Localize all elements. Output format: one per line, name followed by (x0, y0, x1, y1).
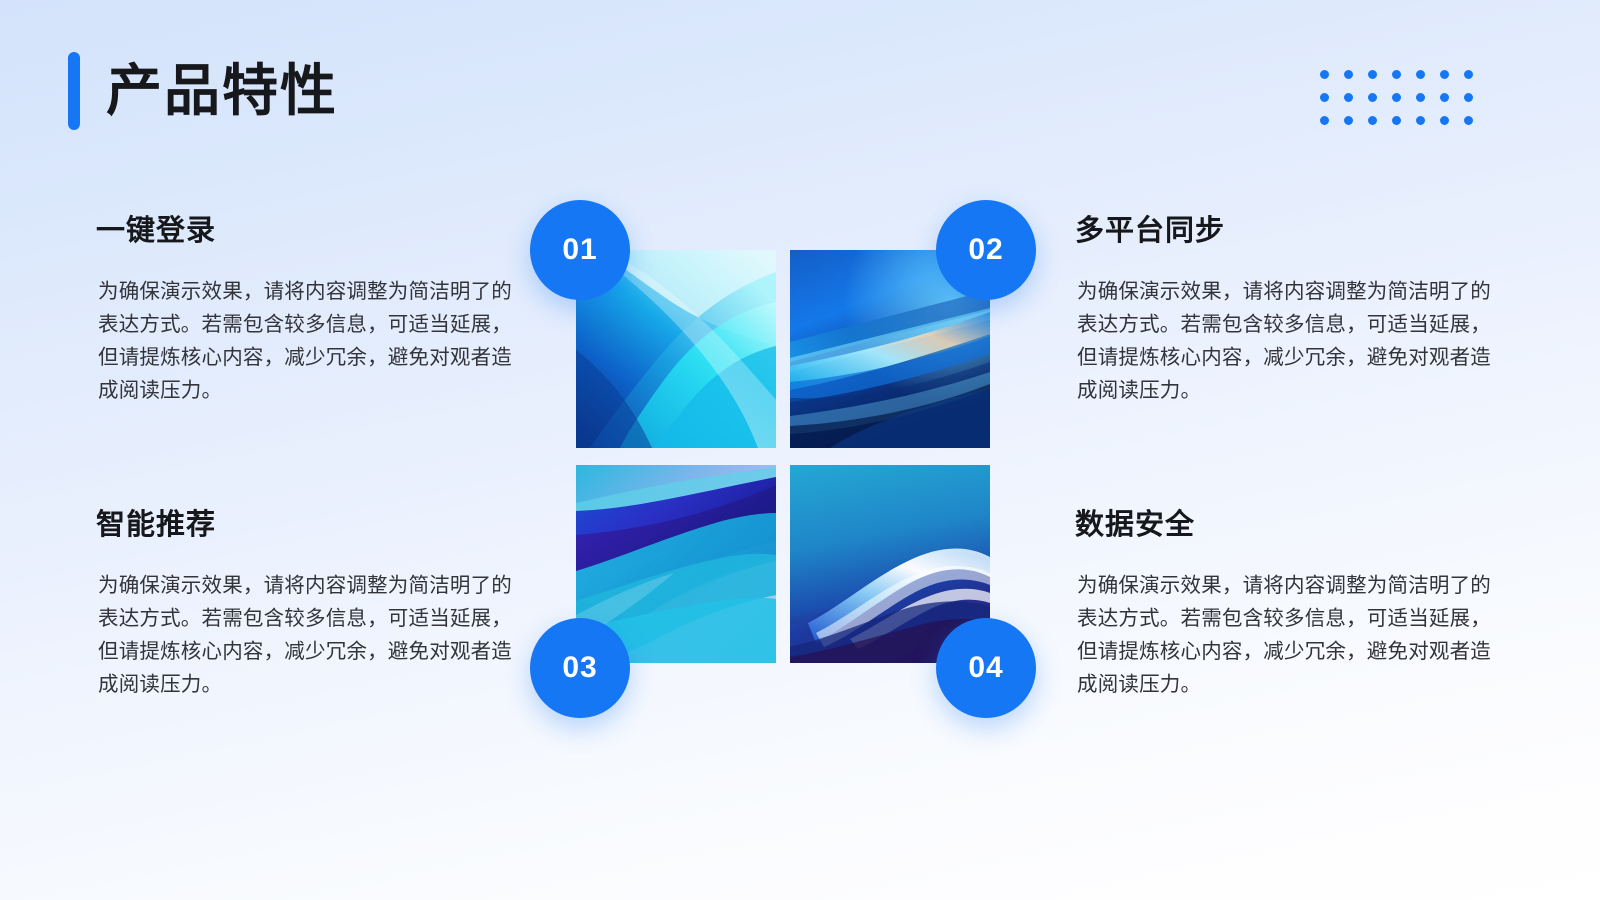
grid-dot (1320, 70, 1329, 79)
grid-dot (1464, 116, 1473, 125)
feature-heading-02: 多平台同步 (1075, 214, 1495, 249)
feature-number-badge-04[interactable]: 04 (936, 618, 1036, 718)
feature-heading-03: 智能推荐 (96, 508, 516, 543)
feature-body-04: 为确保演示效果，请将内容调整为简洁明了的表达方式。若需包含较多信息，可适当延展，… (1075, 569, 1495, 702)
feature-number-badge-01[interactable]: 01 (530, 200, 630, 300)
grid-dot (1392, 116, 1401, 125)
page-title: 产品特性 (106, 63, 338, 119)
grid-dot (1344, 93, 1353, 102)
grid-dot (1440, 70, 1449, 79)
feature-number-badge-02[interactable]: 02 (936, 200, 1036, 300)
feature-number-badge-03[interactable]: 03 (530, 618, 630, 718)
slide-header: 产品特性 (68, 52, 338, 130)
feature-block-01: 一键登录 为确保演示效果，请将内容调整为简洁明了的表达方式。若需包含较多信息，可… (96, 214, 516, 408)
grid-dot (1368, 70, 1377, 79)
grid-dot (1368, 116, 1377, 125)
grid-dot (1464, 70, 1473, 79)
feature-body-03: 为确保演示效果，请将内容调整为简洁明了的表达方式。若需包含较多信息，可适当延展，… (96, 569, 516, 702)
image-mosaic (576, 250, 990, 664)
dot-grid-decoration (1320, 70, 1488, 139)
feature-body-01: 为确保演示效果，请将内容调整为简洁明了的表达方式。若需包含较多信息，可适当延展，… (96, 275, 516, 408)
grid-dot (1440, 116, 1449, 125)
grid-dot (1464, 93, 1473, 102)
grid-dot (1344, 70, 1353, 79)
grid-dot (1440, 93, 1449, 102)
feature-block-02: 多平台同步 为确保演示效果，请将内容调整为简洁明了的表达方式。若需包含较多信息，… (1075, 214, 1495, 408)
grid-dot (1320, 116, 1329, 125)
grid-dot (1416, 93, 1425, 102)
feature-body-02: 为确保演示效果，请将内容调整为简洁明了的表达方式。若需包含较多信息，可适当延展，… (1075, 275, 1495, 408)
title-accent-bar (68, 52, 80, 130)
feature-heading-04: 数据安全 (1075, 508, 1495, 543)
grid-dot (1320, 93, 1329, 102)
grid-dot (1392, 93, 1401, 102)
grid-dot (1416, 116, 1425, 125)
grid-dot (1368, 93, 1377, 102)
slide-canvas: 产品特性 (0, 0, 1600, 900)
grid-dot (1416, 70, 1425, 79)
feature-block-03: 智能推荐 为确保演示效果，请将内容调整为简洁明了的表达方式。若需包含较多信息，可… (96, 508, 516, 702)
grid-dot (1392, 70, 1401, 79)
grid-dot (1344, 116, 1353, 125)
feature-block-04: 数据安全 为确保演示效果，请将内容调整为简洁明了的表达方式。若需包含较多信息，可… (1075, 508, 1495, 702)
feature-heading-01: 一键登录 (96, 214, 516, 249)
